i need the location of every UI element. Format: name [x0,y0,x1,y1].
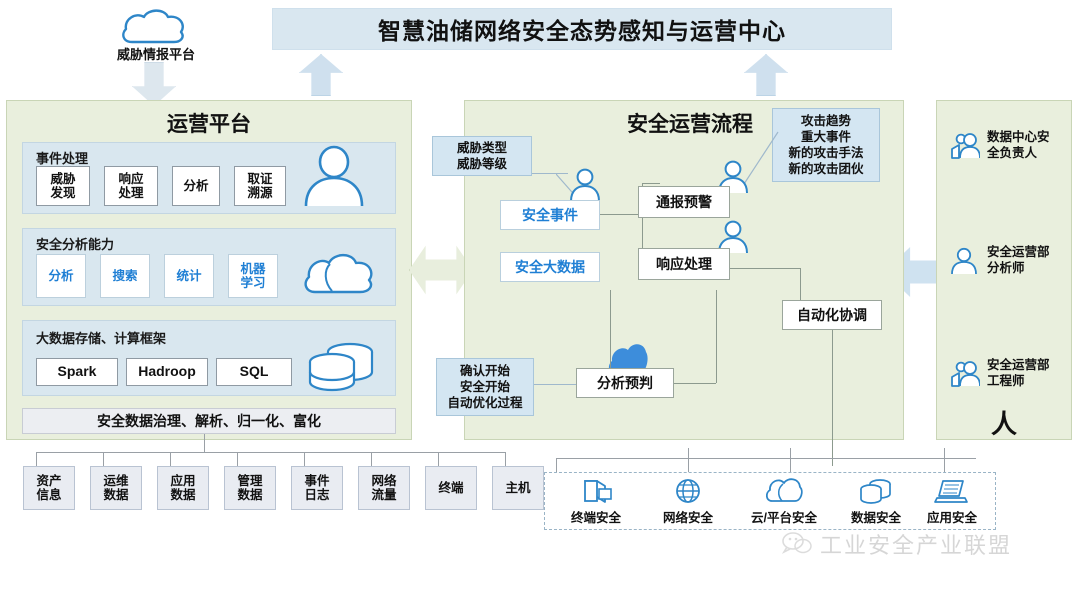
chip-label: 威胁 发现 [50,172,75,200]
chip-label: Hadroop [138,364,196,380]
domain-data-security[interactable]: 数据安全 [833,477,919,526]
chip-analysis[interactable]: 分析 [172,166,220,206]
domain-label: 应用安全 [927,507,977,526]
cloud-icon [763,477,805,505]
chip-label: 机器 学习 [240,262,265,290]
section-event-handling-title: 事件处理 [36,148,88,167]
source-label: 终端 [438,481,463,495]
flow-node-label: 分析预判 [597,373,653,393]
connector-domain-1 [688,448,689,472]
person-icon [568,168,602,202]
role-data-center-lead[interactable]: 数据中心安 全负责人 [950,130,1050,161]
chip-label: Spark [58,364,97,380]
attack-trend-callout: 攻击趋势 重大事件 新的攻击手法 新的攻击团伙 [772,108,880,182]
database-icon-storage [306,336,380,397]
page-title: 智慧油储网络安全态势感知与运营中心 [272,8,892,50]
person-icon [300,144,368,208]
chip-label: 取证 溯源 [247,172,272,200]
domain-application-security[interactable]: 应用安全 [909,477,995,526]
title-up-arrow-right [744,54,788,96]
source-label: 应用 数据 [170,474,195,502]
database-icon [306,336,380,392]
chip-label: 响应 处理 [118,172,143,200]
chip-threat-discovery[interactable]: 威胁 发现 [36,166,90,206]
section-security-analytics-title: 安全分析能力 [36,234,114,253]
source-label: 主机 [505,481,530,495]
flow-node-auto-coordinate[interactable]: 自动化协调 [782,300,882,330]
connector-start-callout [534,384,576,385]
source-label: 事件 日志 [304,474,329,502]
chip-analytics-analysis[interactable]: 分析 [36,254,86,298]
chip-sql[interactable]: SQL [216,358,292,386]
source-event-log[interactable]: 事件 日志 [291,466,343,510]
connector-analysis-to-response [716,290,717,383]
watermark-text: 工业安全产业联盟 [820,528,1012,560]
watermark: 工业安全产业联盟 [782,528,1012,560]
source-label: 运维 数据 [103,474,128,502]
start-confirm-callout: 确认开始 安全开始 自动优化过程 [436,358,534,416]
connector-src-4 [304,452,305,466]
source-label: 管理 数据 [237,474,262,502]
connector-src-2 [170,452,171,466]
flow-node-label: 安全大数据 [515,257,585,277]
flow-node-label: 响应处理 [656,254,712,274]
connector-domain-0 [556,458,557,472]
domain-label: 数据安全 [851,507,901,526]
cloud-icon [300,248,376,298]
flow-node-notify-alert[interactable]: 通报预警 [638,186,730,218]
laptop-icon [934,477,970,505]
ops-platform-title: 运营平台 [6,108,412,138]
start-confirm-callout-text: 确认开始 安全开始 自动优化过程 [447,363,522,411]
person-icon [950,247,980,275]
source-ops-data[interactable]: 运维 数据 [90,466,142,510]
connector-src-3 [237,452,238,466]
domain-label: 终端安全 [571,507,621,526]
source-label: 资产 信息 [36,474,61,502]
source-network-traffic[interactable]: 网络 流量 [358,466,410,510]
connector-auto-vertical [800,268,801,302]
domain-label: 网络安全 [663,507,713,526]
chip-forensics[interactable]: 取证 溯源 [234,166,286,206]
chip-label: 搜索 [112,269,137,283]
role-label: 安全运营部 分析师 [987,245,1050,276]
chip-label: 分析 [48,269,73,283]
flow-node-response-handle[interactable]: 响应处理 [638,248,730,280]
role-label: 安全运营部 工程师 [987,358,1050,389]
connector-auto-to-domains [832,328,833,466]
role-label: 数据中心安 全负责人 [987,130,1050,161]
page-title-text: 智慧油储网络安全态势感知与运营中心 [378,12,786,46]
domain-label: 云/平台安全 [751,507,817,526]
cloud-icon-analytics [300,248,376,303]
domain-endpoint-security[interactable]: 终端安全 [553,477,639,526]
threat-type-callout-text: 威胁类型 威胁等级 [457,140,507,172]
people-panel-footer: 人 [936,404,1072,441]
source-asset-info[interactable]: 资产 信息 [23,466,75,510]
chip-analytics-machine-learning[interactable]: 机器 学习 [228,254,278,298]
connector-src-6 [438,452,439,466]
connector-platform-trunk [204,434,205,452]
connector-src-5 [371,452,372,466]
governance-bar-label: 安全数据治理、解析、归一化、富化 [97,411,321,431]
flow-node-label: 自动化协调 [797,305,867,325]
connector-src-0 [36,452,37,466]
source-host[interactable]: 主机 [492,466,544,510]
source-app-data[interactable]: 应用 数据 [157,466,209,510]
connector-domain-3 [944,448,945,472]
connector-analysis-out [668,383,716,384]
source-label: 网络 流量 [371,474,396,502]
flow-node-analysis-predict[interactable]: 分析预判 [576,368,674,398]
source-mgmt-data[interactable]: 管理 数据 [224,466,276,510]
security-domains-box: 终端安全 网络安全 云/平台安全 数据安全 应用安全 [544,472,996,530]
flow-node-security-event[interactable]: 安全事件 [500,200,600,230]
chip-hadoop[interactable]: Hadroop [126,358,208,386]
flow-node-security-bigdata[interactable]: 安全大数据 [500,252,600,282]
cloud-icon [118,6,190,48]
role-soc-engineer[interactable]: 安全运营部 工程师 [950,358,1050,389]
connector-sources-bus [36,452,506,453]
chip-response-handling[interactable]: 响应 处理 [104,166,158,206]
database-icon [859,477,893,505]
person-icon-event-handling [300,144,368,213]
chip-label: 分析 [183,179,208,193]
chip-analytics-statistics[interactable]: 统计 [164,254,214,298]
threat-intel-label: 威胁情报平台 [100,44,212,63]
threat-type-callout: 威胁类型 威胁等级 [432,136,532,176]
connector-domain-2 [790,448,791,472]
connector-domains-bus [556,458,976,459]
connector-branch-to-notify [642,183,660,184]
source-endpoint[interactable]: 终端 [425,466,477,510]
flow-node-label: 通报预警 [656,192,712,212]
people-group-icon [950,360,980,388]
connector-src-7 [505,452,506,466]
attack-trend-callout-text: 攻击趋势 重大事件 新的攻击手法 新的攻击团伙 [788,113,863,177]
connector-response-to-auto [730,268,800,269]
wechat-icon [782,531,812,557]
flow-node-label: 安全事件 [522,205,578,225]
chip-spark[interactable]: Spark [36,358,118,386]
governance-bar: 安全数据治理、解析、归一化、富化 [22,408,396,434]
connector-event-to-branch [600,214,642,215]
role-soc-analyst[interactable]: 安全运营部 分析师 [950,245,1050,276]
globe-icon [673,477,703,505]
domain-network-security[interactable]: 网络安全 [645,477,731,526]
people-group-icon [950,132,980,160]
chip-analytics-search[interactable]: 搜索 [100,254,150,298]
connector-src-1 [103,452,104,466]
desktop-icon [579,477,613,505]
title-up-arrow-left [299,54,343,96]
chip-label: SQL [240,364,269,380]
section-bigdata-storage-title: 大数据存储、计算框架 [36,328,166,347]
domain-cloud-platform-security[interactable]: 云/平台安全 [741,477,827,526]
connector-bigdata-to-analysis [610,290,611,370]
chip-label: 统计 [176,269,201,283]
